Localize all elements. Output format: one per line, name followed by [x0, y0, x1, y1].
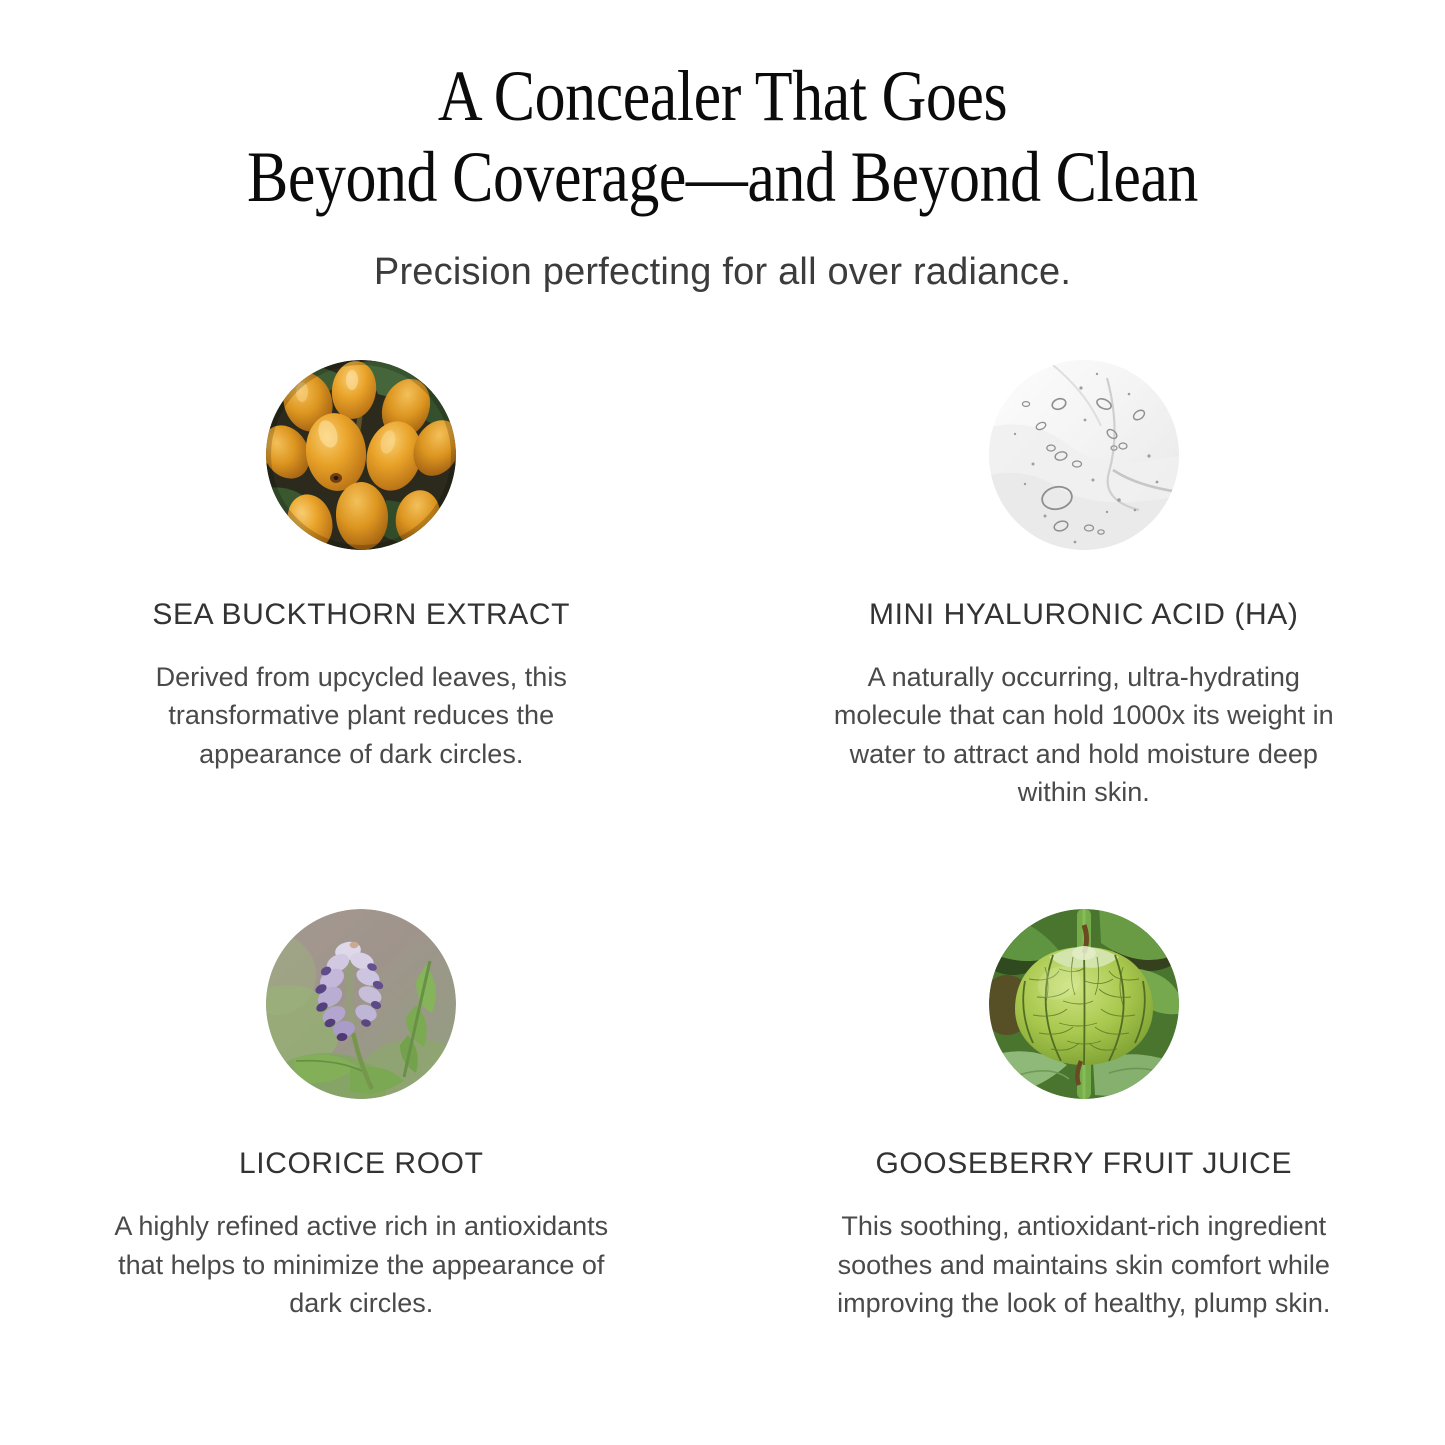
page-title: A Concealer That Goes Beyond Coverage—an… [101, 56, 1344, 217]
ingredient-card-hyaluronic-acid: MINI HYALURONIC ACID (HA) A naturally oc… [723, 360, 1445, 811]
ingredient-card-gooseberry: GOOSEBERRY FRUIT JUICE This soothing, an… [723, 909, 1445, 1322]
page-subtitle: Precision perfecting for all over radian… [0, 251, 1445, 294]
ingredient-description: Derived from upcycled leaves, this trans… [101, 658, 621, 773]
licorice-root-flower-photo [266, 909, 456, 1099]
ingredient-title: LICORICE ROOT [239, 1147, 484, 1181]
gooseberry-husk-photo [989, 909, 1179, 1099]
ingredient-card-sea-buckthorn: SEA BUCKTHORN EXTRACT Derived from upcyc… [0, 360, 723, 811]
ingredient-description: A highly refined active rich in antioxid… [101, 1207, 621, 1322]
ingredient-description: A naturally occurring, ultra-hydrating m… [814, 658, 1354, 811]
ingredient-title: SEA BUCKTHORN EXTRACT [152, 598, 570, 632]
hyaluronic-acid-gel-photo [989, 360, 1179, 550]
ingredient-title: GOOSEBERRY FRUIT JUICE [875, 1147, 1292, 1181]
ingredient-grid: SEA BUCKTHORN EXTRACT Derived from upcyc… [0, 360, 1445, 1322]
ingredient-card-licorice-root: LICORICE ROOT A highly refined active ri… [0, 909, 723, 1322]
ingredient-description: This soothing, antioxidant-rich ingredie… [814, 1207, 1354, 1322]
sea-buckthorn-berries-photo [266, 360, 456, 550]
ingredient-infographic-page: A Concealer That Goes Beyond Coverage—an… [0, 0, 1445, 1445]
page-header: A Concealer That Goes Beyond Coverage—an… [0, 56, 1445, 294]
page-title-line-2: Beyond Coverage—and Beyond Clean [101, 137, 1344, 218]
ingredient-title: MINI HYALURONIC ACID (HA) [869, 598, 1298, 632]
page-title-line-1: A Concealer That Goes [101, 56, 1344, 137]
